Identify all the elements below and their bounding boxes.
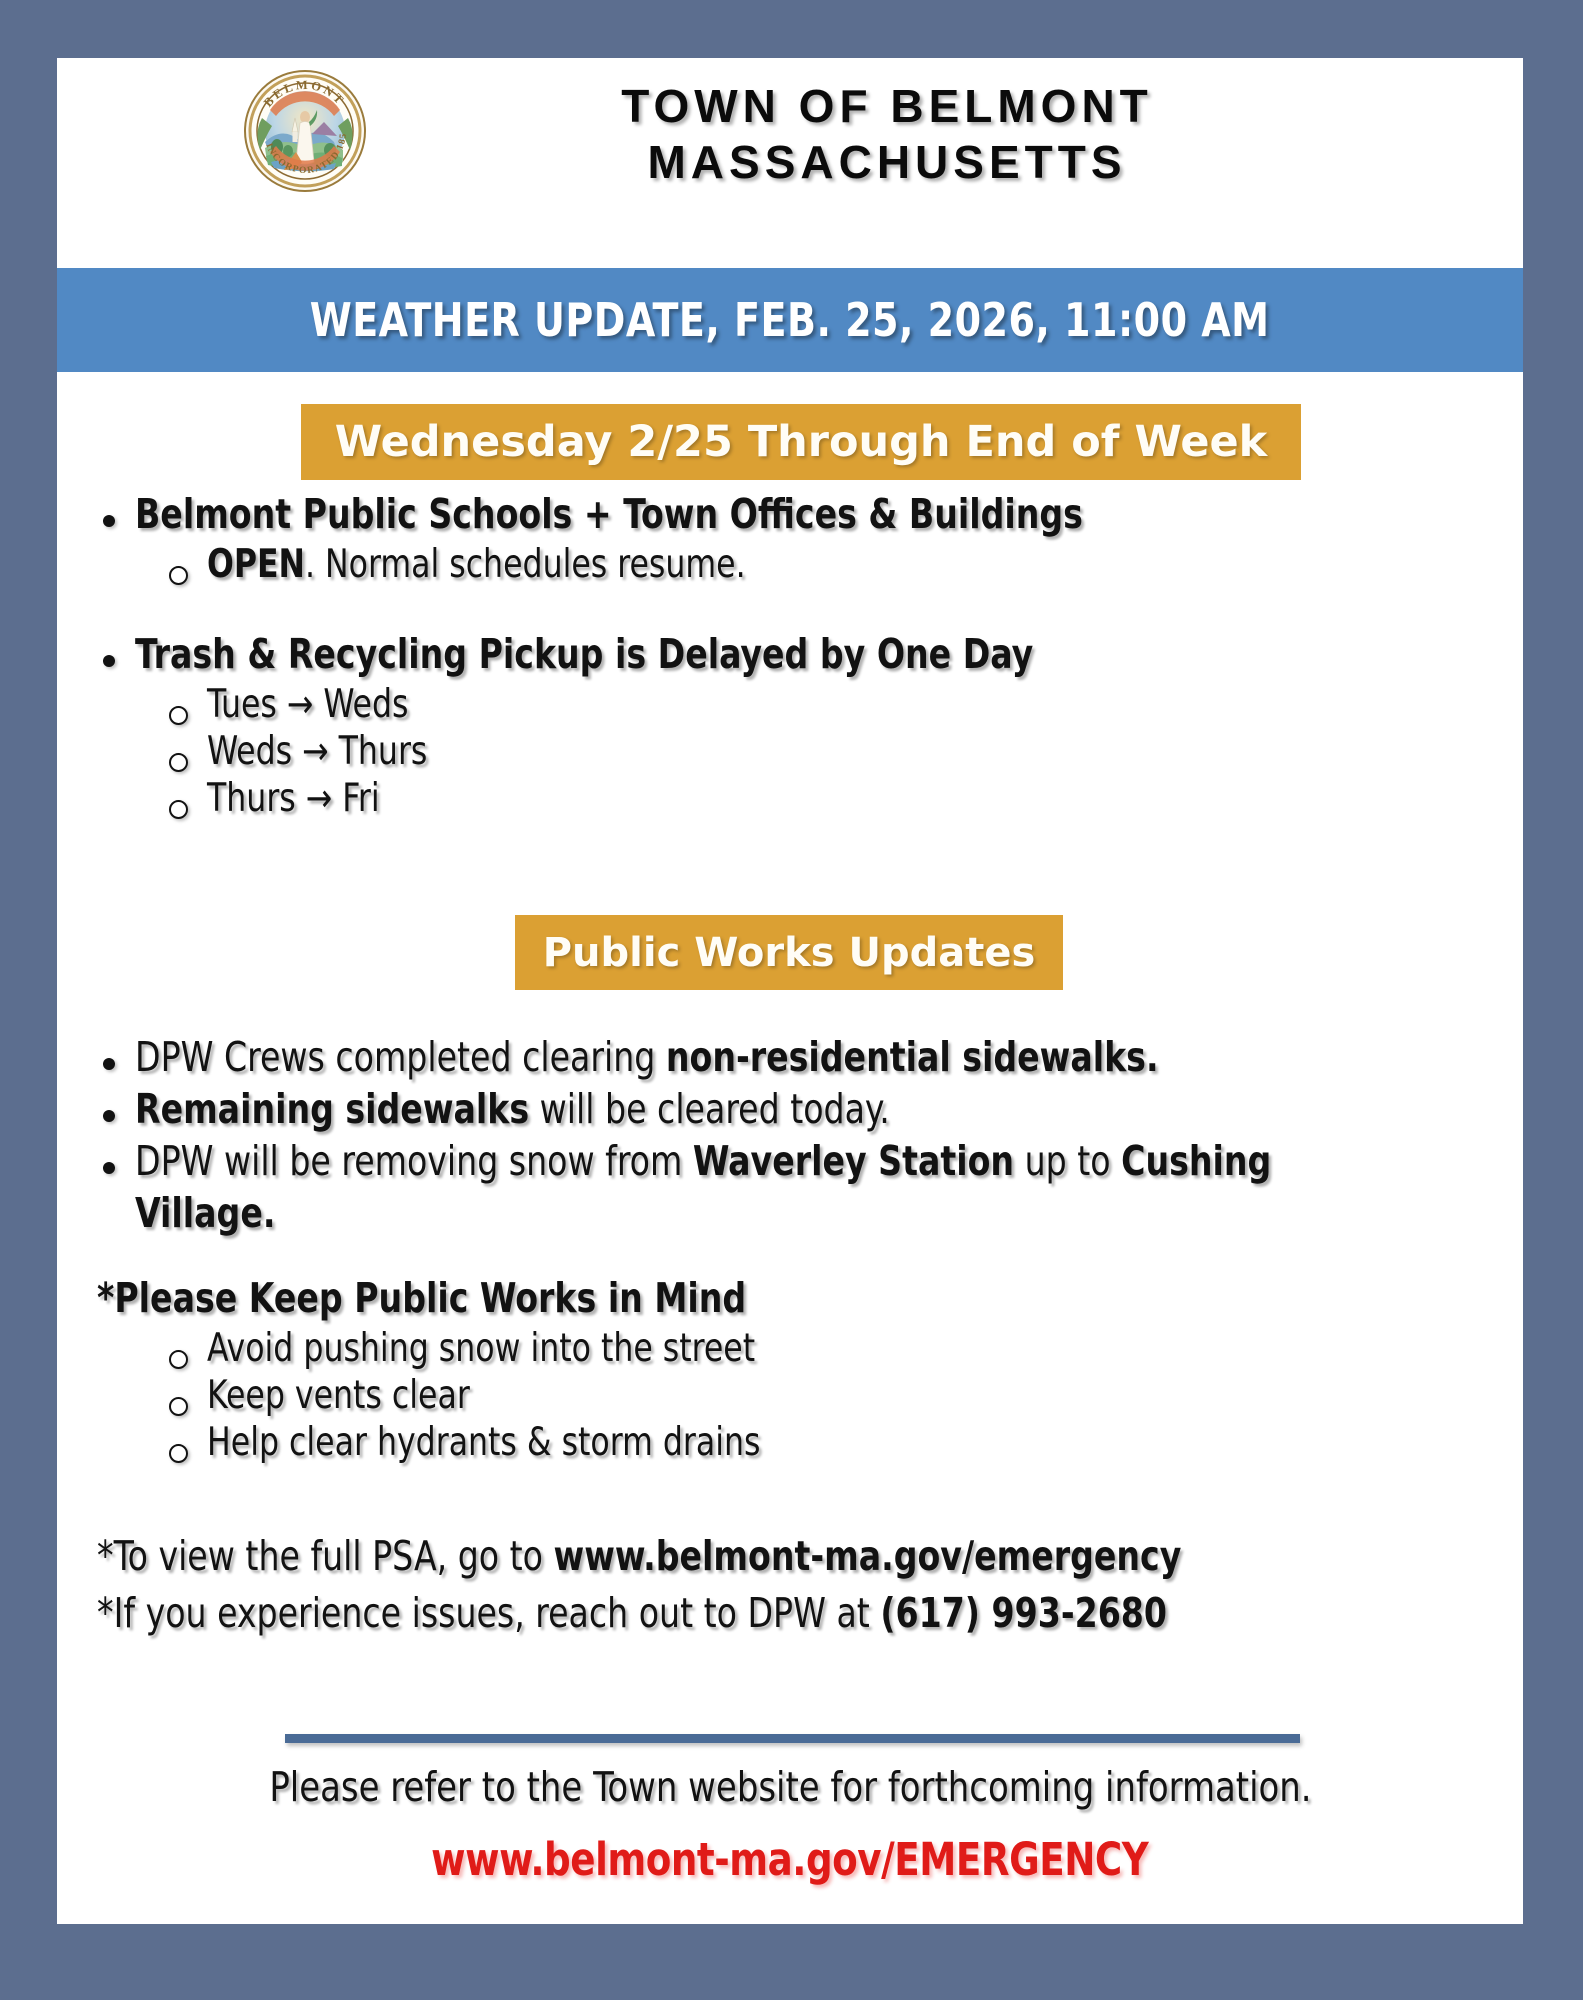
dpw-phone[interactable]: (617) 993-2680 [880, 1589, 1167, 1637]
list-item: Thurs → Fri [207, 774, 1341, 824]
bullet-ring [169, 1350, 188, 1369]
list-item: Avoid pushing snow into the street [207, 1324, 1341, 1374]
pw-item-2-strong: Remaining sidewalks [135, 1085, 529, 1133]
list-item: Weds → Thurs [207, 727, 1341, 777]
pw-item-1-strong: non-residential sidewalks. [666, 1033, 1159, 1081]
list-item: Trash & Recycling Pickup is Delayed by O… [135, 628, 1341, 680]
bullet-dot [103, 1162, 115, 1174]
pw-item-3-strong: Waverley Station [693, 1137, 1014, 1185]
flyer-page: BELMONT INCORPORATED 1859. TOWN OF BELMO… [57, 58, 1523, 1924]
list-item: Keep vents clear [207, 1371, 1341, 1421]
footer-note-text: Please refer to the Town website for for… [269, 1763, 1311, 1811]
bullet-dot [103, 515, 115, 527]
divider [285, 1734, 1300, 1743]
pw-item-2-plain: will be cleared today. [529, 1085, 890, 1133]
section-heading-schedule: Wednesday 2/25 Through End of Week [301, 404, 1301, 480]
bullet-dot [103, 1058, 115, 1070]
list-item: DPW will be removing snow from Waverley … [135, 1135, 1359, 1239]
footer-url[interactable]: www.belmont-ma.gov/EMERGENCY [57, 1833, 1523, 1886]
bullet-ring [169, 566, 188, 585]
town-seal-icon: BELMONT INCORPORATED 1859. [244, 70, 366, 192]
footer-url-text[interactable]: www.belmont-ma.gov/EMERGENCY [431, 1833, 1148, 1886]
section-heading-public-works: Public Works Updates [515, 915, 1063, 990]
psa-url[interactable]: www.belmont-ma.gov/emergency [554, 1532, 1182, 1580]
list-item: OPEN. Normal schedules resume. [207, 540, 1341, 590]
header: BELMONT INCORPORATED 1859. TOWN OF BELMO… [57, 58, 1523, 268]
bullet-ring [169, 753, 188, 772]
open-label: OPEN [207, 542, 305, 587]
bullet-dot [103, 1110, 115, 1122]
list-item: Remaining sidewalks will be cleared toda… [135, 1083, 1359, 1135]
bullet-ring [169, 1444, 188, 1463]
pw-item-3-mid: up to [1014, 1137, 1121, 1185]
weather-update-banner: WEATHER UPDATE, FEB. 25, 2026, 11:00 AM [57, 268, 1523, 372]
psa-line: *To view the full PSA, go to www.belmont… [97, 1530, 1357, 1582]
pw-item-3-plain: DPW will be removing snow from [135, 1137, 693, 1185]
flyer-root: { "header": { "seal_alt": "town-seal", "… [0, 0, 1583, 2000]
keep-in-mind-heading: *Please Keep Public Works in Mind [97, 1272, 1321, 1324]
bullet-ring [169, 800, 188, 819]
issues-line: *If you experience issues, reach out to … [97, 1587, 1357, 1639]
title-line-1: TOWN OF BELMONT [387, 78, 1387, 134]
list-item: Belmont Public Schools + Town Offices & … [135, 488, 1341, 540]
open-rest: . Normal schedules resume. [305, 542, 746, 587]
pw-item-1-plain: DPW Crews completed clearing [135, 1033, 666, 1081]
bullet-dot [103, 655, 115, 667]
banner-text: WEATHER UPDATE, FEB. 25, 2026, 11:00 AM [310, 293, 1270, 347]
bullet-ring [169, 706, 188, 725]
psa-lead: *To view the full PSA, go to [97, 1532, 554, 1580]
footer-note: Please refer to the Town website for for… [57, 1763, 1523, 1811]
page-title: TOWN OF BELMONT MASSACHUSETTS [387, 78, 1387, 190]
title-line-2: MASSACHUSETTS [387, 134, 1387, 190]
list-item: Tues → Weds [207, 680, 1341, 730]
list-item: DPW Crews completed clearing non-residen… [135, 1031, 1359, 1083]
bullet-ring [169, 1397, 188, 1416]
list-item: Help clear hydrants & storm drains [207, 1418, 1341, 1468]
issues-lead: *If you experience issues, reach out to … [97, 1589, 880, 1637]
